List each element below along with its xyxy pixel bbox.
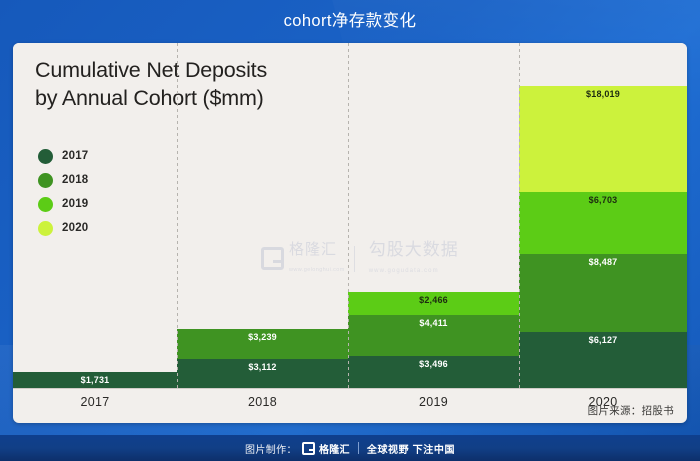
slide-title: cohort净存款变化 <box>0 7 700 31</box>
legend-item-2018[interactable]: 2018 <box>38 168 88 192</box>
watermark: 格隆汇 www.gelonghui.com 勾股大数据 www.gogudata… <box>261 241 459 277</box>
chart-plot-area: Cumulative Net Deposits by Annual Cohort… <box>13 43 687 388</box>
source-note: 图片来源：招股书 <box>588 403 674 418</box>
segment-2020-2019[interactable]: $6,703 <box>519 192 687 254</box>
segment-value-label: $18,019 <box>519 89 687 99</box>
segment-2018-2017[interactable]: $3,112 <box>177 359 348 388</box>
category-separator <box>177 43 178 388</box>
segment-value-label: $2,466 <box>348 295 519 305</box>
watermark-gelonghui: 格隆汇 www.gelonghui.com <box>261 242 345 276</box>
segment-value-label: $4,411 <box>348 318 519 328</box>
segment-2018-2018[interactable]: $3,239 <box>177 329 348 359</box>
chart-card: Cumulative Net Deposits by Annual Cohort… <box>13 43 687 423</box>
footer-brand: 格隆汇 <box>319 441 350 456</box>
watermark-partner-url: www.gogudata.com <box>369 268 439 274</box>
segment-2020-2020[interactable]: $18,019 <box>519 86 687 192</box>
legend-item-label: 2017 <box>62 150 88 162</box>
legend-item-label: 2018 <box>62 174 88 186</box>
legend-item-label: 2019 <box>62 198 88 210</box>
column-2019[interactable]: $3,496 $4,411 $2,466 <box>348 292 519 388</box>
watermark-divider <box>354 246 355 272</box>
x-axis-tick-2017: 2017 <box>13 389 177 414</box>
segment-value-label: $3,496 <box>348 359 519 369</box>
footer-made-by-label: 图片制作： <box>245 441 297 456</box>
segment-value-label: $6,127 <box>519 335 687 345</box>
legend-item-2017[interactable]: 2017 <box>38 144 88 168</box>
legend-swatch-icon <box>38 149 53 164</box>
segment-2020-2017[interactable]: $6,127 <box>519 332 687 388</box>
legend-item-2019[interactable]: 2019 <box>38 192 88 216</box>
column-2020[interactable]: $6,127 $8,487 $6,703 $18,019 <box>519 86 687 388</box>
legend-swatch-icon <box>38 173 53 188</box>
slide-root: cohort净存款变化 Cumulative Net Deposits by A… <box>0 0 700 461</box>
segment-value-label: $8,487 <box>519 257 687 267</box>
segment-value-label: $3,112 <box>177 362 348 372</box>
x-axis: 2017 2018 2019 2020 <box>13 388 687 414</box>
category-separator <box>348 43 349 388</box>
segment-2017-2017[interactable]: $1,731 <box>13 372 177 388</box>
footer-bar: 图片制作： 格隆汇 全球视野 下注中国 <box>0 435 700 461</box>
watermark-brand-url: www.gelonghui.com <box>289 267 345 273</box>
legend-swatch-icon <box>38 221 53 236</box>
chart-legend: 2017 2018 2019 2020 <box>38 144 88 240</box>
watermark-gogudata: 勾股大数据 www.gogudata.com <box>364 241 459 277</box>
x-axis-tick-2019: 2019 <box>348 389 519 414</box>
legend-item-2020[interactable]: 2020 <box>38 216 88 240</box>
x-axis-tick-2018: 2018 <box>177 389 348 414</box>
segment-2019-2018[interactable]: $4,411 <box>348 315 519 356</box>
category-separator <box>519 43 520 388</box>
gelonghui-logo-icon <box>261 247 284 270</box>
footer-slogan: 全球视野 下注中国 <box>367 441 455 456</box>
column-2017[interactable]: $1,731 <box>13 372 177 388</box>
legend-item-label: 2020 <box>62 222 88 234</box>
segment-2019-2017[interactable]: $3,496 <box>348 356 519 388</box>
footer-divider <box>358 442 359 454</box>
segment-2019-2019[interactable]: $2,466 <box>348 292 519 315</box>
column-2018[interactable]: $3,112 $3,239 <box>177 329 348 388</box>
segment-2020-2018[interactable]: $8,487 <box>519 254 687 332</box>
segment-value-label: $6,703 <box>519 195 687 205</box>
watermark-brand-cn: 格隆汇 <box>289 241 337 258</box>
gelonghui-logo-icon <box>302 442 315 455</box>
segment-value-label: $1,731 <box>13 375 177 385</box>
chart-title: Cumulative Net Deposits by Annual Cohort… <box>35 57 267 113</box>
watermark-partner-cn: 勾股大数据 <box>369 240 459 259</box>
legend-swatch-icon <box>38 197 53 212</box>
segment-value-label: $3,239 <box>177 332 348 342</box>
